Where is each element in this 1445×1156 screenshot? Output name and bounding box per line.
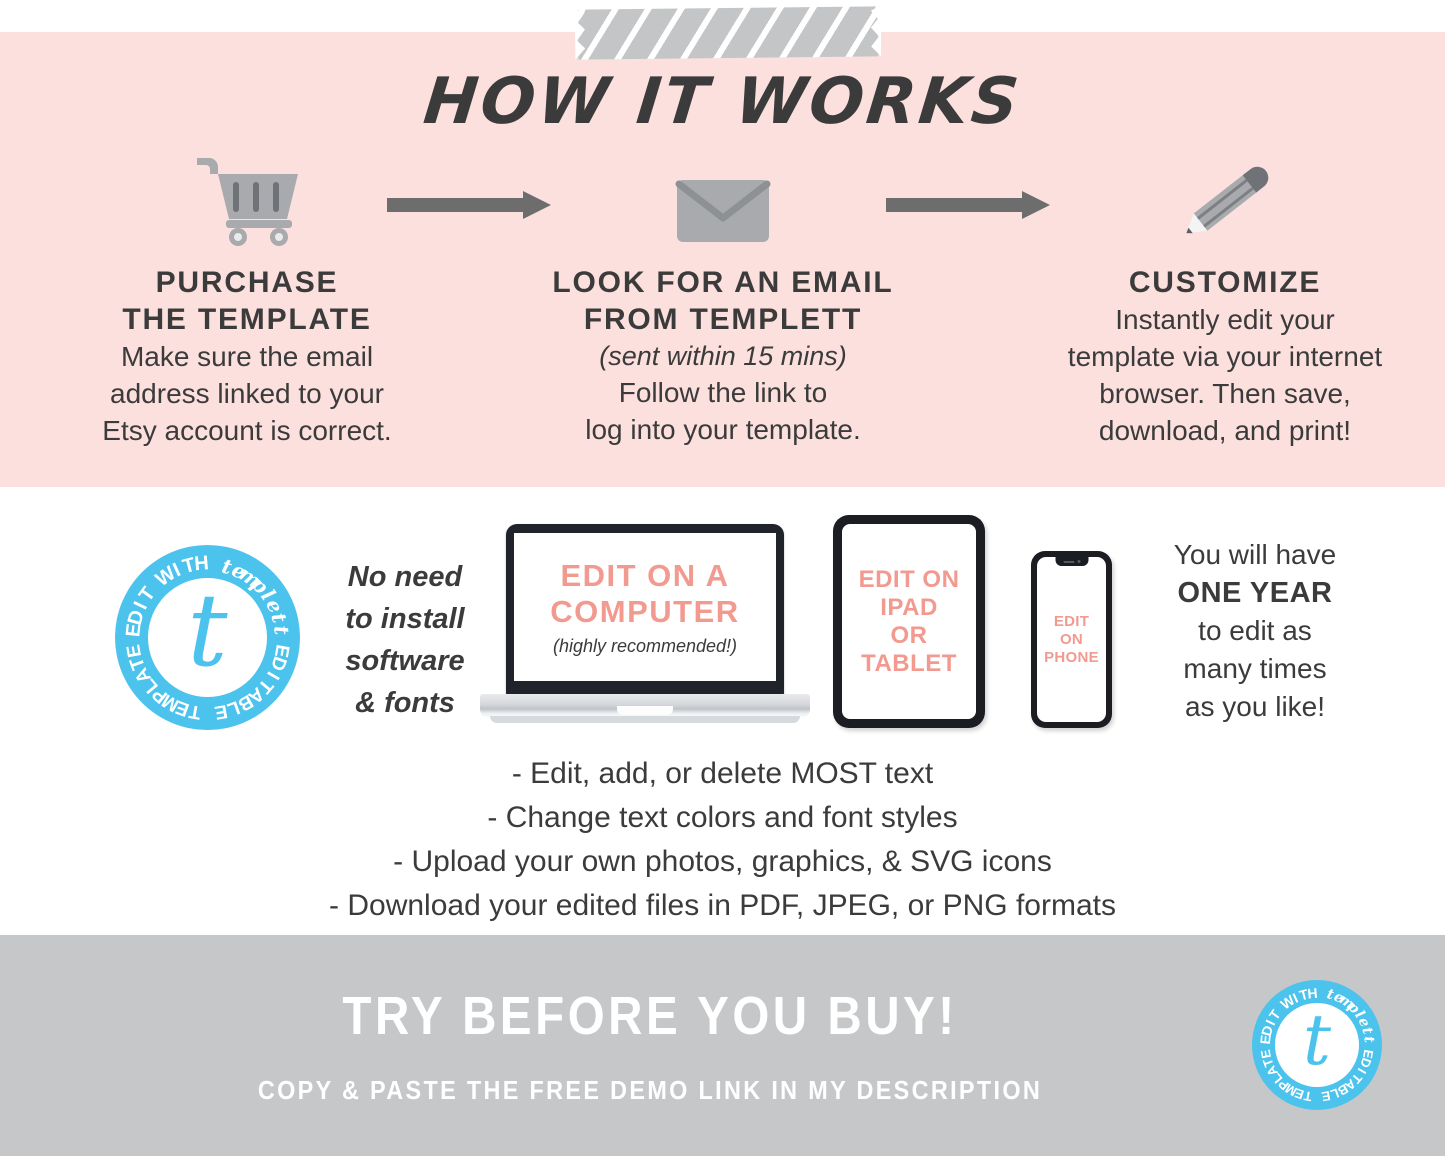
badge-arc-char xyxy=(210,552,218,575)
no-need-line: No need xyxy=(330,556,480,598)
phone-speaker-icon xyxy=(1063,561,1074,563)
one-year-text: You will have ONE YEAR to edit as many t… xyxy=(1120,536,1390,726)
tablet-device: EDIT ON IPAD OR TABLET xyxy=(833,515,985,728)
tablet-line: OR xyxy=(891,622,928,650)
step-body: Make sure the email address linked to yo… xyxy=(72,338,422,449)
footer-banner: TRY BEFORE YOU BUY! COPY & PASTE THE FRE… xyxy=(0,935,1445,1156)
step-body-line: download, and print! xyxy=(1050,412,1400,449)
tablet-line: EDIT ON xyxy=(859,566,960,594)
list-item: - Download your edited files in PDF, JPE… xyxy=(0,884,1445,928)
feature-list: - Edit, add, or delete MOST text - Chang… xyxy=(0,752,1445,928)
tablet-line: IPAD xyxy=(880,594,938,622)
step-italic-note: (sent within 15 mins) xyxy=(548,338,898,374)
step-body-line: browser. Then save, xyxy=(1050,375,1400,412)
tablet-body: EDIT ON IPAD OR TABLET xyxy=(833,515,985,728)
step-title-line1: CUSTOMIZE xyxy=(1050,264,1400,301)
list-item: - Edit, add, or delete MOST text xyxy=(0,752,1445,796)
step-body-line: Follow the link to xyxy=(548,374,898,411)
envelope-icon xyxy=(548,150,898,246)
step-body-line: Instantly edit your xyxy=(1050,301,1400,338)
badge-arc-char: H xyxy=(1307,985,1318,1002)
laptop-device: EDIT ON A COMPUTER (highly recommended!) xyxy=(480,524,810,729)
one-year-line: many times xyxy=(1120,650,1390,688)
step-purchase: PURCHASE THE TEMPLATE Make sure the emai… xyxy=(72,150,422,449)
steps-row: PURCHASE THE TEMPLATE Make sure the emai… xyxy=(0,150,1445,470)
step-body-line: template via your internet xyxy=(1050,338,1400,375)
laptop-foot xyxy=(490,716,800,723)
no-need-line: software xyxy=(330,640,480,682)
step-body: Instantly edit your template via your in… xyxy=(1050,301,1400,449)
badge-arc-char: H xyxy=(193,552,209,576)
step-body-line: Etsy account is correct. xyxy=(72,412,422,449)
one-year-line: You will have xyxy=(1120,536,1390,574)
phone-line: PHONE xyxy=(1044,649,1099,667)
step-body-line: log into your template. xyxy=(548,411,898,448)
laptop-subtext: (highly recommended!) xyxy=(553,636,737,657)
shopping-cart-icon xyxy=(72,150,422,246)
list-item: - Change text colors and font styles xyxy=(0,796,1445,840)
pencil-icon xyxy=(1050,150,1400,246)
tablet-line: TABLET xyxy=(861,650,957,678)
washi-tape-icon xyxy=(578,6,879,59)
laptop-line1: EDIT ON A xyxy=(560,558,729,594)
badge-circle: t EDIT WITH templett EDITABLE TEMPLATE xyxy=(115,545,300,730)
phone-body: EDIT ON PHONE xyxy=(1031,551,1112,728)
badge-arc-char: t xyxy=(269,624,294,636)
laptop-trackpad-notch xyxy=(617,706,673,715)
templett-badge: t EDIT WITH templett EDITABLE TEMPLATE xyxy=(103,545,313,730)
no-need-line: & fonts xyxy=(330,682,480,724)
badge-arc-char xyxy=(1315,1090,1319,1105)
laptop-screen: EDIT ON A COMPUTER (highly recommended!) xyxy=(514,533,776,681)
step-title-line1: LOOK FOR AN EMAIL xyxy=(548,264,898,301)
step-title: PURCHASE THE TEMPLATE xyxy=(72,264,422,338)
footer-subtitle: COPY & PASTE THE FREE DEMO LINK IN MY DE… xyxy=(65,1075,1235,1106)
step-title: CUSTOMIZE xyxy=(1050,264,1400,301)
step-title-line2: THE TEMPLATE xyxy=(72,301,422,338)
step-title-line2: FROM TEMPLETT xyxy=(548,301,898,338)
one-year-line: to edit as xyxy=(1120,612,1390,650)
how-it-works-infographic: HOW IT WORKS xyxy=(0,0,1445,1156)
footer-title: TRY BEFORE YOU BUY! xyxy=(78,985,1222,1047)
badge-arc-char xyxy=(205,701,210,723)
phone-notch-icon xyxy=(1055,557,1088,566)
one-year-highlight: ONE YEAR xyxy=(1178,577,1333,609)
no-need-line: to install xyxy=(330,598,480,640)
step-look-for-email: LOOK FOR AN EMAIL FROM TEMPLETT (sent wi… xyxy=(548,150,898,448)
step-body: (sent within 15 mins) Follow the link to… xyxy=(548,338,898,448)
step-title-line1: PURCHASE xyxy=(72,264,422,301)
phone-screen: EDIT ON PHONE xyxy=(1037,557,1106,722)
page-title: HOW IT WORKS xyxy=(0,65,1445,139)
one-year-line: as you like! xyxy=(1120,688,1390,726)
step-body-line: Make sure the email xyxy=(72,338,422,375)
no-need-text: No need to install software & fonts xyxy=(330,556,480,724)
badge-circle: t EDIT WITH templett EDITABLE TEMPLATE xyxy=(1252,980,1382,1110)
step-customize: CUSTOMIZE Instantly edit your template v… xyxy=(1050,150,1400,449)
phone-line: ON xyxy=(1060,631,1083,649)
step-body-line: address linked to your xyxy=(72,375,422,412)
phone-device: EDIT ON PHONE xyxy=(1031,551,1112,728)
laptop-line2: COMPUTER xyxy=(550,594,739,630)
phone-camera-icon xyxy=(1077,560,1080,563)
tablet-screen: EDIT ON IPAD OR TABLET xyxy=(842,524,976,719)
step-title: LOOK FOR AN EMAIL FROM TEMPLETT xyxy=(548,264,898,338)
phone-line: EDIT xyxy=(1054,613,1089,631)
templett-badge-footer: t EDIT WITH templett EDITABLE TEMPLATE xyxy=(1252,980,1382,1110)
list-item: - Upload your own photos, graphics, & SV… xyxy=(0,840,1445,884)
laptop-lid: EDIT ON A COMPUTER (highly recommended!) xyxy=(506,524,784,696)
